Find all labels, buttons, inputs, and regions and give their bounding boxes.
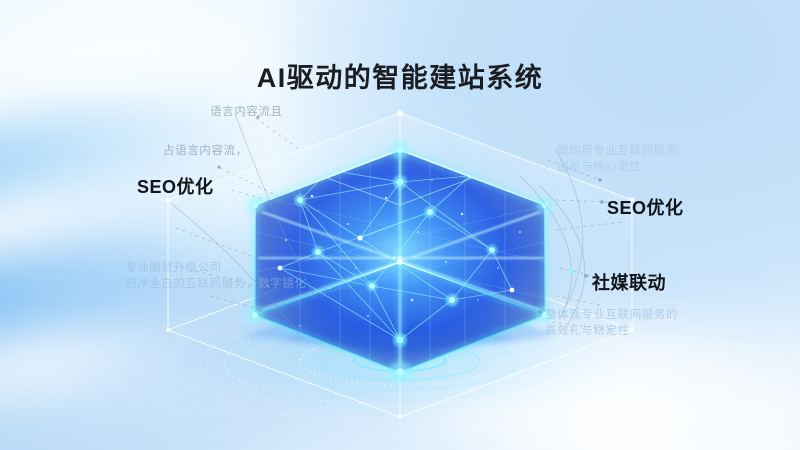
label-seo-left[interactable]: SEO优化	[137, 173, 214, 199]
label-seo-right[interactable]: SEO优化	[607, 194, 684, 220]
annotation-right-bottom-line1: 整体现专业互联网服务的	[545, 307, 678, 323]
callout-endpoint-glow	[569, 269, 574, 274]
annotation-left-second: 占语言内容流，	[163, 143, 248, 159]
slide-canvas: AI驱动的智能建站系统 语言内容流且 占语言内容流， SEO优化 专业国贸升级公…	[0, 0, 800, 450]
annotation-right-bottom-line2: 高效礼与稳定性	[545, 323, 678, 339]
annotation-right-top-line1: 塑均用专业互联网服务	[557, 143, 678, 159]
annotation-right-bottom: 整体现专业互联网服务的 高效礼与稳定性	[545, 307, 678, 339]
annotation-right-top-line2: 创新与核心定性	[557, 159, 678, 175]
label-social-linkage[interactable]: 社媒联动	[592, 269, 666, 295]
annotation-left-bottom-line1: 专业国贸升级公司	[125, 260, 307, 276]
annotation-left-bottom-line2: 归净全白的互联网服务，数字镜化	[125, 276, 307, 292]
page-title: AI驱动的智能建站系统	[0, 56, 800, 95]
annotation-right-top: 塑均用专业互联网服务 创新与核心定性	[557, 143, 678, 175]
annotation-left-top: 语言内容流且	[210, 104, 283, 120]
annotation-left-bottom: 专业国贸升级公司 归净全白的互联网服务，数字镜化	[125, 260, 307, 292]
